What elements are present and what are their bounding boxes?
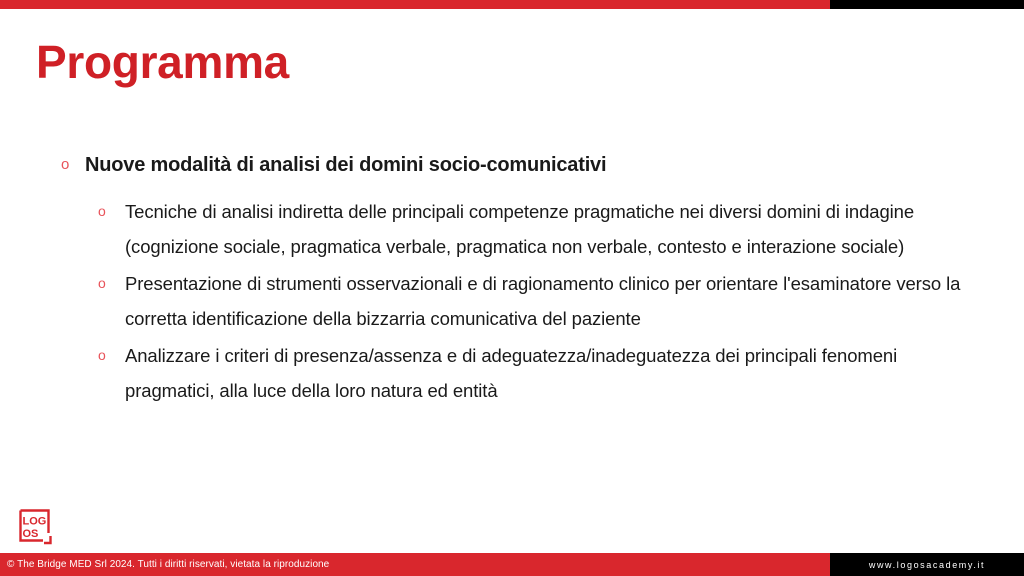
- bullet-marker-icon: o: [98, 194, 106, 229]
- bullet-level2-text: Analizzare i criteri di presenza/assenza…: [125, 345, 897, 401]
- bullet-sublist: o Tecniche di analisi indiretta delle pr…: [0, 194, 1024, 408]
- bullet-level1: o Nuove modalità di analisi dei domini s…: [0, 150, 1024, 180]
- logos-logo-icon: LOG OS: [19, 509, 55, 546]
- page-title: Programma: [36, 36, 289, 89]
- bullet-level2-text: Tecniche di analisi indiretta delle prin…: [125, 201, 914, 257]
- content-area: o Nuove modalità di analisi dei domini s…: [0, 150, 1024, 410]
- bullet-level1-text: Nuove modalità di analisi dei domini soc…: [85, 154, 606, 176]
- logo-text-line1: LOG: [23, 516, 47, 528]
- top-accent-bar: [0, 0, 1024, 9]
- bullet-level2: o Tecniche di analisi indiretta delle pr…: [0, 194, 1024, 264]
- logo-text-line2: OS: [23, 528, 39, 540]
- bullet-marker-icon: o: [61, 150, 69, 180]
- footer-copyright: © The Bridge MED Srl 2024. Tutti i dirit…: [0, 553, 830, 576]
- footer-website: www.logosacademy.it: [830, 553, 1024, 576]
- top-accent-bar-black: [830, 0, 1024, 9]
- slide: Programma o Nuove modalità di analisi de…: [0, 0, 1024, 576]
- bullet-level2-text: Presentazione di strumenti osservazional…: [125, 273, 960, 329]
- bullet-marker-icon: o: [98, 266, 106, 301]
- footer-bar: © The Bridge MED Srl 2024. Tutti i dirit…: [0, 553, 1024, 576]
- bullet-marker-icon: o: [98, 338, 106, 373]
- top-accent-bar-red: [0, 0, 830, 9]
- bullet-level2: o Presentazione di strumenti osservazion…: [0, 266, 1024, 336]
- bullet-level2: o Analizzare i criteri di presenza/assen…: [0, 338, 1024, 408]
